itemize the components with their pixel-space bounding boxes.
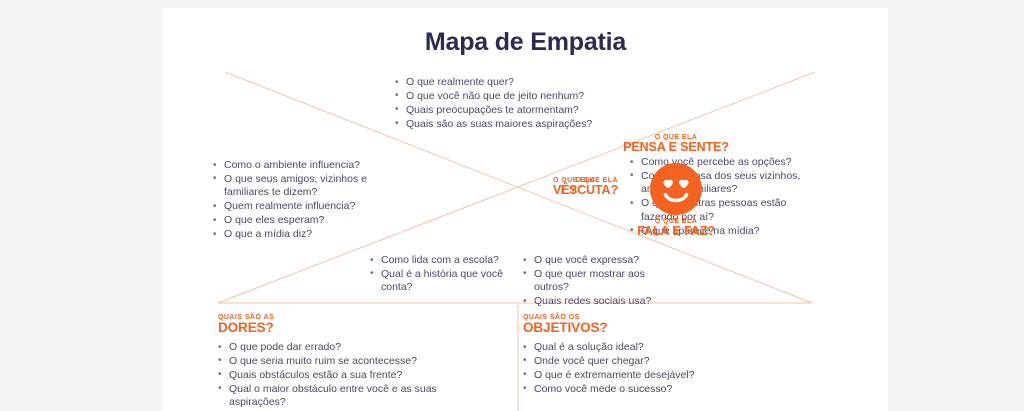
- list-item: Quais redes sociais usa?: [523, 295, 663, 308]
- list-item: O que você expressa?: [523, 254, 663, 267]
- list-item: Como lida com a escola?: [370, 254, 510, 267]
- section-heading-pains: QUAIS SÃO AS DORES?: [218, 314, 274, 335]
- section-pains-list: O que pode dar errado? O que seria muito…: [218, 341, 488, 410]
- quadrant-say-and-do-right-list: O que você expressa? O que quer mostrar …: [523, 254, 663, 309]
- page-title: Mapa de Empatia: [163, 28, 888, 57]
- center-label-think-and-feel: O QUE ELA PENSA E SENTE?: [566, 134, 786, 154]
- list-item: Quais preocupações te atormentam?: [395, 104, 675, 117]
- list-item: Como o ambiente influencia?: [213, 159, 388, 172]
- list-item: O que realmente quer?: [395, 76, 675, 89]
- list-item: Qual é a história que você conta?: [370, 268, 510, 295]
- list-item: Qual é a solução ideal?: [523, 341, 793, 354]
- list-item: Quem realmente influencia?: [213, 200, 388, 213]
- center-label-think-big: PENSA E SENTE?: [566, 141, 786, 154]
- list-item: O que quer mostrar aos outros?: [523, 268, 663, 295]
- quadrant-say-and-do-left-list: Como lida com a escola? Qual é a históri…: [370, 254, 510, 295]
- section-goals-list: Qual é a solução ideal? Onde você quer c…: [523, 341, 793, 397]
- center-label-say-big: FALA E FAZ?: [566, 225, 786, 238]
- section-goals-big: OBJETIVOS?: [523, 321, 608, 335]
- quadrant-think-and-feel-list: O que realmente quer? O que você não que…: [395, 76, 675, 132]
- list-item: Como você mede o sucesso?: [523, 383, 793, 396]
- list-item: O que seria muito ruim se acontecesse?: [218, 355, 488, 368]
- list-item: O que é extremamente desejável?: [523, 369, 793, 382]
- list-item: Qual o maior obstáculo entre você e as s…: [218, 383, 488, 410]
- center-label-say-and-do: O QUE ELA FALA E FAZ?: [566, 218, 786, 238]
- list-item: O que pode dar errado?: [218, 341, 488, 354]
- screenshot-canvas: Mapa de Empatia O que realmente quer? O …: [0, 0, 1024, 411]
- list-item: O que eles esperam?: [213, 214, 388, 227]
- list-item: O que seus amigos, vizinhos e familiares…: [213, 173, 388, 200]
- quadrant-hear-list: Como o ambiente influencia? O que seus a…: [213, 159, 388, 242]
- list-item: Onde você quer chegar?: [523, 355, 793, 368]
- list-item: O que a mídia diz?: [213, 228, 388, 241]
- list-item: Quais obstáculos estão a sua frente?: [218, 369, 488, 382]
- empathy-map-card: Mapa de Empatia O que realmente quer? O …: [163, 8, 888, 411]
- smiling-face-with-heart-eyes-icon: [650, 163, 702, 215]
- list-item: Quais são as suas maiores aspirações?: [395, 118, 675, 131]
- list-item: O que você não que de jeito nenhum?: [395, 90, 675, 103]
- section-heading-goals: QUAIS SÃO OS OBJETIVOS?: [523, 314, 608, 335]
- section-pains-big: DORES?: [218, 321, 274, 335]
